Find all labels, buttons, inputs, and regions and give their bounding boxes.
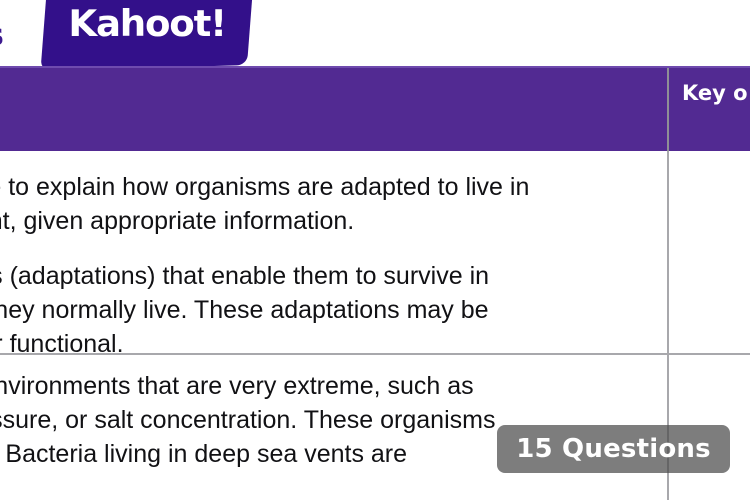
clipped-page-text: s <box>0 18 4 53</box>
table-header-cell-skills: Key o skills <box>667 68 750 153</box>
paragraph-text: able to explain how organisms are adapte… <box>0 170 667 238</box>
table-cell-skills <box>669 151 750 353</box>
questions-count-badge[interactable]: 15 Questions <box>497 425 730 473</box>
table-header-cell-main <box>0 68 667 153</box>
paragraph-text: ures (adaptations) that enable them to s… <box>0 259 667 353</box>
table-cell-content: able to explain how organisms are adapte… <box>0 151 667 353</box>
questions-count-label: 15 Questions <box>516 434 711 464</box>
kahoot-wordmark-label: Kahoot! <box>44 4 251 44</box>
table-row: able to explain how organisms are adapte… <box>0 151 750 353</box>
table-header-skills-label: Key o skills <box>682 78 750 108</box>
table-header-row: Key o skills <box>0 66 750 153</box>
kahoot-logo-banner[interactable]: Kahoot! <box>40 0 254 71</box>
screenshot-canvas: s Kahoot! Key o skills able to explain h… <box>0 0 750 500</box>
